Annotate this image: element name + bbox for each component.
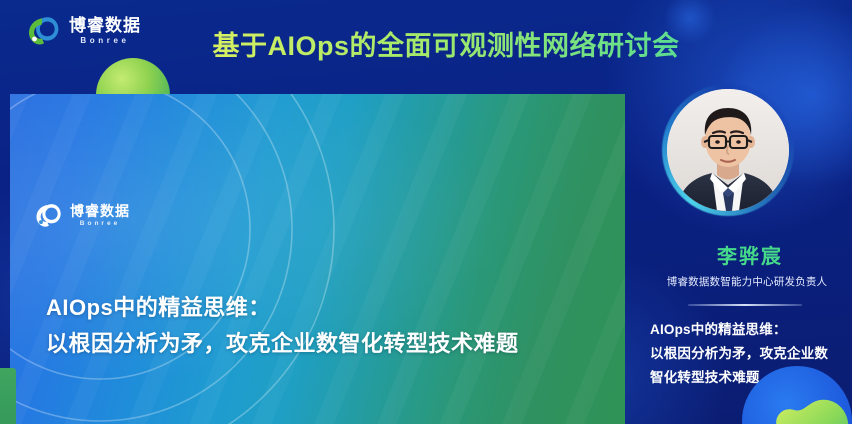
avatar — [662, 84, 794, 216]
slide-logo-name-cn: 博睿数据 — [70, 204, 130, 218]
slide-logo-name-en: Bonree — [70, 221, 130, 228]
panel-divider — [688, 304, 802, 306]
avatar-image-clip — [667, 89, 789, 211]
lime-blob-icon — [742, 366, 852, 424]
topic-line: AIOps中的精益思维： — [650, 318, 850, 342]
slide-title-line-1: AIOps中的精益思维： — [46, 293, 519, 323]
slide-light-vignette — [10, 94, 625, 424]
slide-logo-wordmark: 博睿数据 Bonree — [70, 204, 130, 228]
speaker-panel: 李骅宸 博睿数据数智能力中心研发负责人 AIOps中的精益思维： 以根因分析为矛… — [636, 0, 852, 424]
slide-title: AIOps中的精益思维： 以根因分析为矛，攻克企业数智化转型技术难题 — [46, 293, 519, 358]
presentation-slide[interactable]: 博睿数据 Bonree AIOps中的精益思维： 以根因分析为矛，攻克企业数智化… — [10, 94, 625, 424]
speaker-portrait — [667, 89, 789, 211]
webinar-poster: 博睿数据 Bonree 基于AIOps的全面可观测性网络研讨会 博 — [0, 0, 852, 424]
speaker-name: 李骅宸 — [650, 240, 850, 269]
topic-line: 以根因分析为矛，攻克企业数 — [650, 342, 850, 366]
slide-title-line-2: 以根因分析为矛，攻克企业数智化转型技术难题 — [46, 329, 519, 359]
decorative-circle-bottom-right — [742, 366, 852, 424]
slide-logo: 博睿数据 Bonree — [34, 202, 130, 229]
speaker-role: 博睿数据数智能力中心研发负责人 — [642, 274, 852, 289]
bonree-logo-white-icon — [34, 202, 62, 229]
decorative-green-sliver-left — [0, 368, 16, 424]
